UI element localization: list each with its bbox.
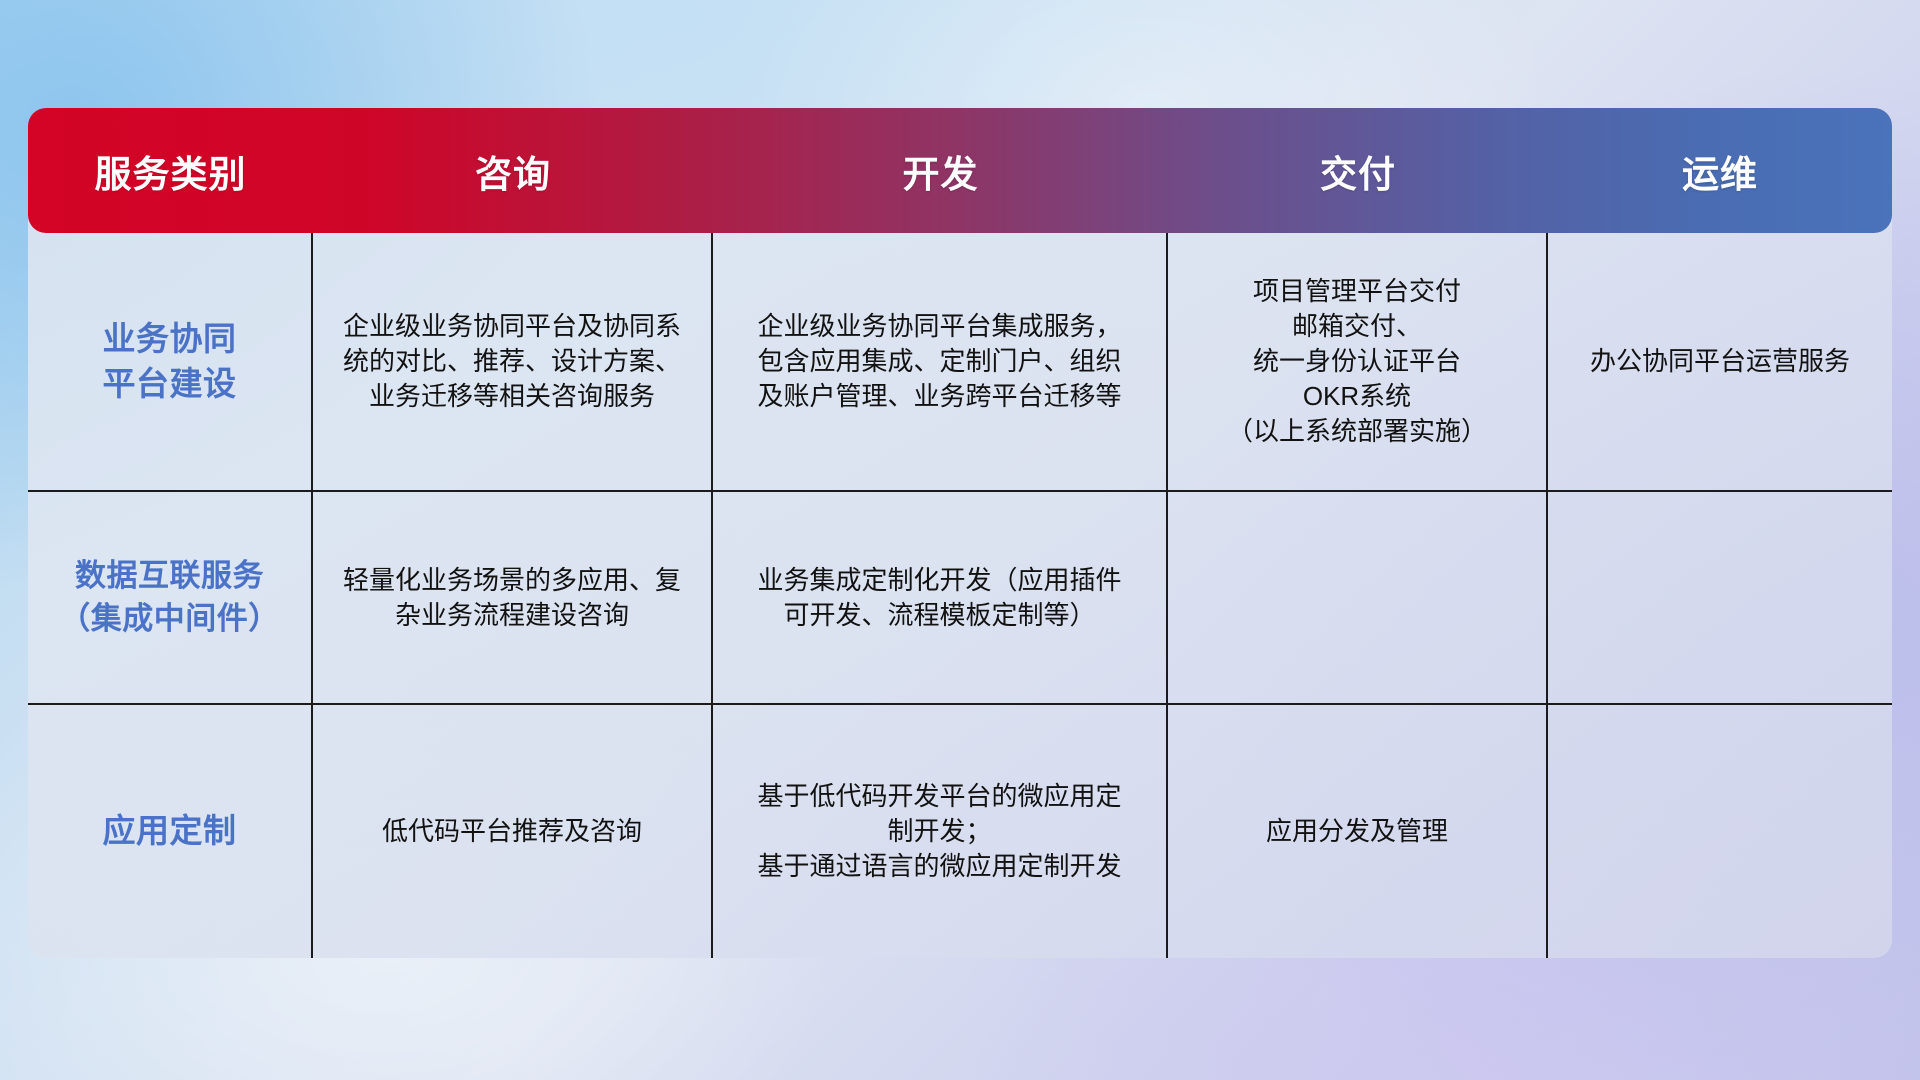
cell-value: 企业级业务协同平台及协同系 统的对比、推荐、设计方案、 业务迁移等相关咨询服务 [343,309,681,413]
column-header-category: 服务类别 [28,144,313,198]
cell-value: 应用分发及管理 [1266,814,1448,849]
column-header-delivery: 交付 [1168,144,1548,198]
cell-value: 业务集成定制化开发（应用插件 可开发、流程模板定制等） [757,563,1121,633]
table-cell-delivery [1168,492,1548,703]
table-cell-category: 数据互联服务 （集成中间件） [28,492,313,703]
cell-value: 项目管理平台交付 邮箱交付、 统一身份认证平台 OKR系统 （以上系统部署实施） [1227,274,1487,448]
table-cell-delivery: 应用分发及管理 [1168,705,1548,958]
column-header-operations: 运维 [1548,144,1892,198]
table-cell-development: 业务集成定制化开发（应用插件 可开发、流程模板定制等） [713,492,1168,703]
row-category-label: 应用定制 [103,809,237,854]
column-header-development: 开发 [713,144,1168,198]
cell-value: 办公协同平台运营服务 [1590,344,1850,379]
table-row: 数据互联服务 （集成中间件） 轻量化业务场景的多应用、复 杂业务流程建设咨询 业… [28,490,1892,703]
table-cell-consulting: 轻量化业务场景的多应用、复 杂业务流程建设咨询 [313,492,713,703]
service-matrix-table: 业务协同 平台建设 企业级业务协同平台及协同系 统的对比、推荐、设计方案、 业务… [28,108,1892,958]
table-cell-consulting: 企业级业务协同平台及协同系 统的对比、推荐、设计方案、 业务迁移等相关咨询服务 [313,233,713,490]
table-cell-consulting: 低代码平台推荐及咨询 [313,705,713,958]
cell-value: 基于低代码开发平台的微应用定 制开发； 基于通过语言的微应用定制开发 [757,779,1121,883]
table-cell-development: 企业级业务协同平台集成服务， 包含应用集成、定制门户、组织 及账户管理、业务跨平… [713,233,1168,490]
table-row: 应用定制 低代码平台推荐及咨询 基于低代码开发平台的微应用定 制开发； 基于通过… [28,703,1892,958]
table-row: 业务协同 平台建设 企业级业务协同平台及协同系 统的对比、推荐、设计方案、 业务… [28,233,1892,490]
table-rows: 业务协同 平台建设 企业级业务协同平台及协同系 统的对比、推荐、设计方案、 业务… [28,233,1892,958]
table-body-panel: 业务协同 平台建设 企业级业务协同平台及协同系 统的对比、推荐、设计方案、 业务… [28,108,1892,958]
cell-value: 低代码平台推荐及咨询 [382,814,642,849]
row-category-label: 数据互联服务 （集成中间件） [59,555,280,639]
table-cell-delivery: 项目管理平台交付 邮箱交付、 统一身份认证平台 OKR系统 （以上系统部署实施） [1168,233,1548,490]
table-cell-category: 业务协同 平台建设 [28,233,313,490]
cell-value: 轻量化业务场景的多应用、复 杂业务流程建设咨询 [343,563,681,633]
table-cell-development: 基于低代码开发平台的微应用定 制开发； 基于通过语言的微应用定制开发 [713,705,1168,958]
column-header-consulting: 咨询 [313,144,713,198]
table-cell-category: 应用定制 [28,705,313,958]
table-cell-operations [1548,492,1892,703]
table-cell-operations [1548,705,1892,958]
row-category-label: 业务协同 平台建设 [103,317,237,407]
table-cell-operations: 办公协同平台运营服务 [1548,233,1892,490]
cell-value: 企业级业务协同平台集成服务， 包含应用集成、定制门户、组织 及账户管理、业务跨平… [757,309,1121,413]
table-header-bar: 服务类别 咨询 开发 交付 运维 [28,108,1892,233]
